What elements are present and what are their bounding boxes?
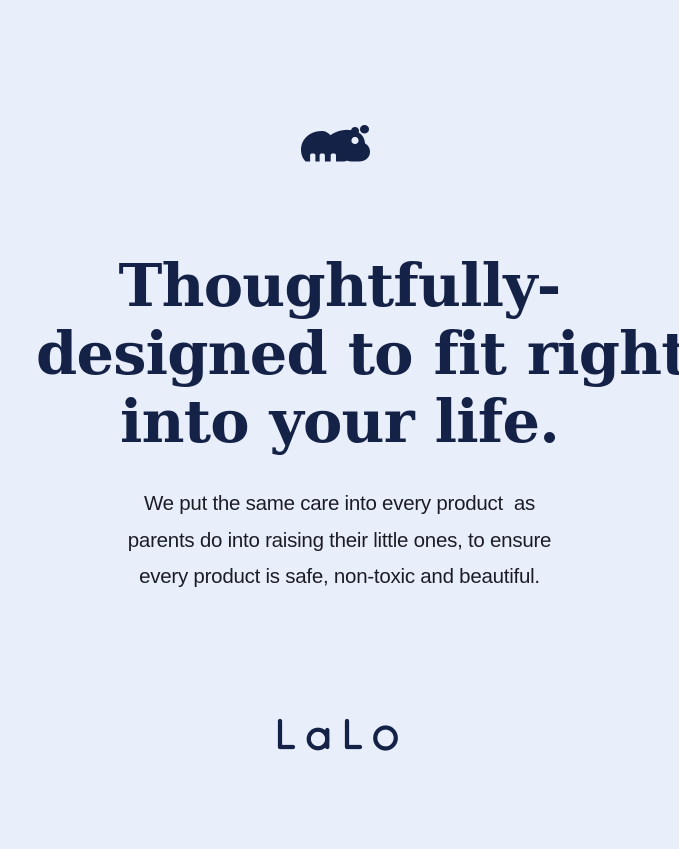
headline-line-3: into your life.	[36, 388, 643, 456]
page-title: Thoughtfully- designed to fit right into…	[0, 252, 679, 456]
body-line-1: We put the same care into every product …	[70, 486, 609, 523]
body-line-2: parents do into raising their little one…	[70, 523, 609, 560]
hippo-icon	[299, 122, 381, 166]
brand-promo-card: Thoughtfully- designed to fit right into…	[0, 0, 679, 849]
headline-line-1: Thoughtfully-	[36, 252, 643, 320]
lalo-wordmark	[275, 714, 405, 754]
headline-line-2: designed to fit right	[36, 320, 643, 388]
body-line-3: every product is safe, non-toxic and bea…	[70, 559, 609, 596]
body-paragraph: We put the same care into every product …	[0, 486, 679, 596]
